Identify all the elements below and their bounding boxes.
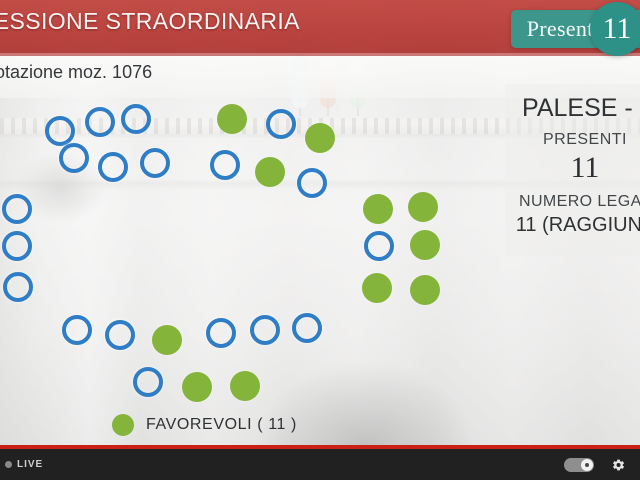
seat-marker-empty	[206, 318, 236, 348]
presenti-count-value: 11	[603, 12, 632, 46]
live-dot-icon	[5, 461, 12, 468]
seat-marker-empty	[62, 315, 92, 345]
numero-legale-label: NUMERO LEGAL	[505, 193, 640, 211]
video-player: SESSIONE STRAORDINARIA votazione moz. 10…	[0, 0, 640, 480]
presenti-count-circle: 11	[590, 2, 640, 56]
live-label: LIVE	[17, 459, 43, 470]
presenti-value: 11	[505, 151, 640, 185]
legend-favorevoli-label: FAVOREVOLI ( 11 )	[146, 416, 297, 434]
seat-marker-empty	[3, 272, 33, 302]
autoplay-toggle[interactable]	[564, 458, 594, 472]
seat-marker-empty	[45, 116, 75, 146]
seat-marker-empty	[140, 148, 170, 178]
seat-marker-favorevole	[410, 230, 440, 260]
seat-marker-favorevole	[230, 371, 260, 401]
live-video-frame[interactable]: SESSIONE STRAORDINARIA votazione moz. 10…	[0, 0, 640, 447]
seat-marker-favorevole	[182, 372, 212, 402]
seat-marker-empty	[59, 143, 89, 173]
seat-marker-favorevole	[152, 325, 182, 355]
seat-marker-favorevole	[305, 123, 335, 153]
seat-marker-favorevole	[363, 194, 393, 224]
seat-marker-favorevole	[217, 104, 247, 134]
seat-marker-empty	[121, 104, 151, 134]
seat-marker-empty	[292, 313, 322, 343]
seat-marker-empty	[133, 367, 163, 397]
seat-marker-empty	[250, 315, 280, 345]
seat-marker-empty	[2, 194, 32, 224]
seat-marker-favorevole	[255, 157, 285, 187]
numero-legale-value: 11 (RAGGIUNT	[505, 214, 640, 237]
motion-subtitle: votazione moz. 1076	[0, 62, 346, 83]
seat-marker-empty	[98, 152, 128, 182]
legend-favorevoli-dot	[112, 414, 134, 436]
presenti-badge-label: Presenti	[527, 16, 600, 42]
seat-marker-empty	[364, 231, 394, 261]
seat-marker-empty	[210, 150, 240, 180]
vote-mode-label: PALESE - (	[505, 94, 640, 123]
seat-marker-favorevole	[362, 273, 392, 303]
presenti-label: PRESENTI	[505, 131, 640, 149]
live-indicator[interactable]: LIVE	[5, 459, 43, 470]
seat-marker-empty	[266, 109, 296, 139]
gear-icon[interactable]	[610, 457, 626, 473]
page-title: SESSIONE STRAORDINARIA	[0, 8, 448, 35]
seat-marker-favorevole	[410, 275, 440, 305]
seat-marker-empty	[2, 231, 32, 261]
player-controls: LIVE	[0, 449, 640, 480]
seat-marker-empty	[105, 320, 135, 350]
seat-marker-empty	[297, 168, 327, 198]
legend: FAVOREVOLI ( 11 )	[112, 414, 297, 436]
vote-info-panel: PALESE - ( PRESENTI 11 NUMERO LEGAL 11 (…	[505, 84, 640, 256]
seat-marker-favorevole	[408, 192, 438, 222]
seat-marker-empty	[85, 107, 115, 137]
